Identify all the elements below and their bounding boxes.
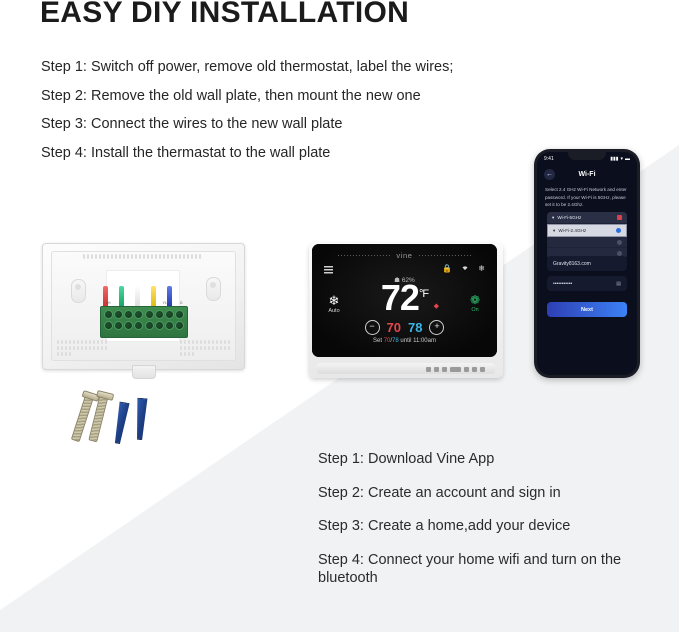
install-step-2: Step 2: Remove the old wall plate, then … — [41, 89, 561, 104]
phone-app-header: ← Wi-Fi — [537, 166, 637, 182]
wifi-icon-svg — [461, 264, 469, 271]
wifi-icon — [461, 264, 469, 273]
selected-indicator-icon — [616, 228, 621, 233]
wall-plate-top-vents — [83, 254, 205, 259]
wifi-signal-icon: ▾ — [553, 228, 555, 234]
setpoint-low-value[interactable]: 70 — [387, 320, 401, 335]
back-button[interactable]: ← — [544, 169, 555, 180]
terminal-label-y1: Y1 — [163, 301, 167, 305]
mode-control[interactable]: ❄ Auto — [323, 294, 345, 314]
wall-plate-body: RH Y1 G — [42, 243, 245, 370]
temperature-unit: °F — [419, 288, 428, 300]
wifi-network-item[interactable]: ▾ Wi-Fi-5GHz — [547, 212, 627, 224]
radio-indicator-icon — [617, 251, 622, 256]
wall-anchor-1 — [110, 401, 131, 445]
ssid-value: Gravity8163.com — [553, 261, 591, 267]
wifi-network-name: Wi-Fi-2.4GHz — [558, 228, 613, 233]
terminal-screw-row-top — [104, 310, 184, 319]
wall-plate-terminal-block — [100, 306, 188, 338]
mode-label: Auto — [323, 308, 345, 314]
cellular-signal-icon: ▮▮▮ — [610, 156, 618, 162]
decrease-button[interactable]: − — [365, 320, 380, 335]
lock-icon: 🔒 — [442, 265, 452, 273]
setpoint-high-value[interactable]: 78 — [408, 320, 422, 335]
installation-steps-list: Step 1: Switch off power, remove old the… — [41, 60, 561, 174]
battery-icon: ▬ — [625, 156, 630, 162]
app-step-3: Step 3: Create a home,add your device — [318, 517, 648, 536]
heating-indicator-icon: ◆ — [434, 302, 439, 310]
fan-control[interactable]: ❁ On — [464, 294, 486, 313]
blocked-indicator-icon — [617, 215, 622, 220]
page-title: EASY DIY INSTALLATION — [40, 0, 409, 30]
wifi-network-name: Wi-Fi-5GHz — [557, 215, 614, 220]
ssid-input[interactable]: Gravity8163.com — [547, 256, 627, 271]
wifi-signal-icon: ▾ — [552, 215, 554, 221]
phone-frame: 9:41 ▮▮▮ ▾ ▬ ← Wi-Fi Select 2.4 GHz Wi-F… — [534, 149, 640, 378]
wall-plate-keyhole-left — [71, 279, 86, 303]
wall-plate-bottom-vents-left — [57, 340, 109, 352]
terminal-label-g: G — [180, 301, 183, 305]
fan-icon: ❁ — [464, 294, 486, 306]
install-step-3: Step 3: Connect the wires to the new wal… — [41, 117, 561, 132]
phone-screen: 9:41 ▮▮▮ ▾ ▬ ← Wi-Fi Select 2.4 GHz Wi-F… — [537, 152, 637, 375]
increase-button[interactable]: + — [429, 320, 444, 335]
thermostat-image: vine 🔒 ❄ ☗ 62% — [309, 243, 503, 378]
app-setup-steps-list: Step 1: Download Vine App Step 2: Create… — [318, 450, 648, 603]
radio-indicator-icon — [617, 240, 622, 245]
thermostat-screen: vine 🔒 ❄ ☗ 62% — [312, 244, 497, 357]
schedule-prefix: Set — [373, 338, 384, 344]
menu-icon[interactable] — [324, 266, 333, 274]
wall-anchor-2 — [133, 398, 150, 441]
thermostat-body: vine 🔒 ❄ ☗ 62% — [312, 244, 497, 357]
wall-plate-bottom-vents-right — [180, 340, 232, 352]
phone-image: 9:41 ▮▮▮ ▾ ▬ ← Wi-Fi Select 2.4 GHz Wi-F… — [534, 149, 640, 378]
wall-plate-keyhole-right — [206, 277, 221, 301]
wifi-instructions: Select 2.4 GHz Wi-Fi Network and enter p… — [545, 186, 629, 209]
password-value: ••••••••••• — [553, 281, 572, 287]
wall-plate-image: RH Y1 G — [42, 243, 245, 370]
app-step-4: Step 4: Connect your home wifi and turn … — [318, 551, 648, 588]
wifi-icon: ▾ — [620, 156, 623, 162]
thermostat-status-icons: 🔒 ❄ — [442, 264, 485, 273]
install-step-4: Step 4: Install the thermastat to the wa… — [41, 146, 561, 161]
brand-dotline-right — [419, 255, 471, 256]
setpoint-controls: − 70 78 + — [312, 320, 497, 335]
install-step-1: Step 1: Switch off power, remove old the… — [41, 60, 561, 75]
thermostat-vent-dots — [426, 367, 485, 372]
status-bar-right: ▮▮▮ ▾ ▬ — [610, 156, 630, 162]
schedule-status: Set 70/78 until 11:00am — [312, 338, 497, 344]
next-button[interactable]: Next — [547, 302, 627, 317]
phone-status-bar: 9:41 ▮▮▮ ▾ ▬ — [537, 154, 637, 163]
wifi-network-item-selected[interactable]: ▾ Wi-Fi-2.4GHz — [547, 224, 627, 237]
infographic-page: EASY DIY INSTALLATION Step 1: Switch off… — [0, 0, 679, 632]
temperature-value: 72 — [381, 277, 419, 318]
app-step-1: Step 1: Download Vine App — [318, 450, 648, 469]
schedule-suffix: until 11:00am — [399, 338, 436, 344]
wall-plate-bottom-tab — [132, 365, 156, 379]
brand-dotline-left — [338, 255, 390, 256]
schedule-high: 78 — [392, 338, 399, 344]
snowflake-icon: ❄ — [478, 265, 485, 273]
status-time: 9:41 — [544, 156, 554, 162]
terminal-screw-row-bottom — [104, 321, 184, 330]
brand-label: vine — [396, 251, 412, 260]
terminal-label-rh: RH — [106, 301, 111, 305]
thermostat-brand-row: vine — [312, 251, 497, 260]
fan-label: On — [464, 307, 486, 313]
wifi-network-list: ▾ Wi-Fi-5GHz ▾ Wi-Fi-2.4GHz — [547, 212, 627, 259]
cool-mode-icon: ❄ — [323, 294, 345, 307]
mounting-hardware-image — [72, 388, 172, 450]
app-step-2: Step 2: Create an account and sign in — [318, 484, 648, 503]
wifi-network-item[interactable] — [547, 237, 627, 248]
password-input[interactable]: ••••••••••• ▤ — [547, 276, 627, 291]
wall-plate-terminal-labels: RH Y1 G — [99, 301, 189, 305]
show-password-icon[interactable]: ▤ — [616, 281, 621, 287]
